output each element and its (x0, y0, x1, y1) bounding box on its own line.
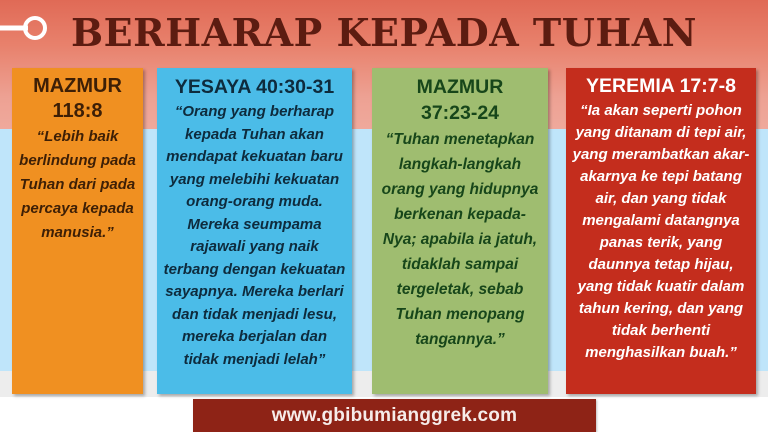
website-url-banner[interactable]: www.gbibumianggrek.com (193, 399, 596, 432)
verse-card-title-line-1: YESAYA 40:30-31 (163, 74, 346, 100)
verse-card-body: “Ia akan seperti pohon yang ditanam di t… (572, 100, 750, 364)
verse-card-title: YESAYA 40:30-31 (163, 74, 346, 100)
verse-card-mazmur-118-8: MAZMUR 118:8 “Lebih baik berlindung pada… (12, 68, 143, 394)
verse-card-mazmur-37-23-24: MAZMUR 37:23-24 “Tuhan menetapkan langka… (372, 68, 548, 394)
verse-card-title-line-2: 37:23-24 (378, 100, 542, 126)
verse-card-title-line-2: 118:8 (18, 99, 137, 124)
verse-card-yesaya-40-30-31: YESAYA 40:30-31 “Orang yang berharap kep… (157, 68, 352, 394)
website-url-text: www.gbibumianggrek.com (272, 405, 517, 427)
verse-card-yeremia-17-7-8: YEREMIA 17:7-8 “Ia akan seperti pohon ya… (566, 68, 756, 394)
page-title: BERHARAP KEPADA TUHAN (0, 10, 768, 56)
verse-card-body: “Orang yang berharap kepada Tuhan akan m… (163, 101, 346, 371)
verse-card-title-line-1: MAZMUR (378, 74, 542, 100)
verse-card-title: MAZMUR 118:8 (18, 74, 137, 124)
verse-card-body: “Tuhan menetapkan langkah-langkah orang … (378, 127, 542, 352)
verse-card-title: MAZMUR 37:23-24 (378, 74, 542, 126)
verse-card-body: “Lebih baik berlindung pada Tuhan dari p… (18, 125, 137, 245)
slide-canvas: BERHARAP KEPADA TUHAN MAZMUR 118:8 “Lebi… (0, 0, 768, 432)
verse-card-title-line-1: MAZMUR (18, 74, 137, 99)
verse-card-title: YEREMIA 17:7-8 (572, 74, 750, 99)
verse-card-title-line-1: YEREMIA 17:7-8 (572, 74, 750, 99)
